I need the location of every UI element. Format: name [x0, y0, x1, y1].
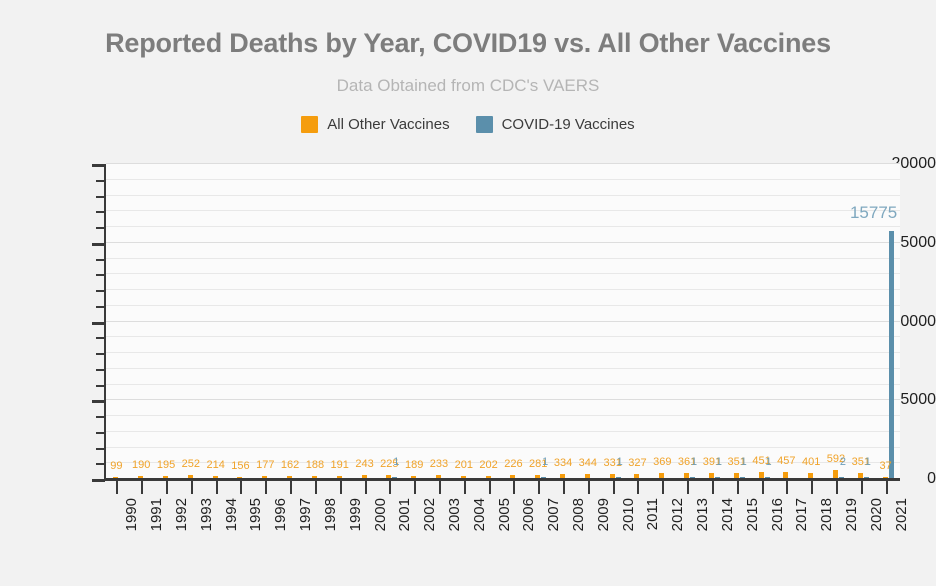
x-axis-label-1992: 1992	[173, 498, 190, 531]
x-axis-label-2018: 2018	[818, 498, 835, 531]
x-axis-label-2019: 2019	[843, 498, 860, 531]
bar-value-label-covid-19-vaccines: 1	[765, 456, 771, 468]
bar-value-label-all-other-vaccines: 252	[182, 458, 200, 470]
legend-label-all-other-vaccines: All Other Vaccines	[327, 116, 449, 133]
x-axis-tick	[588, 481, 590, 494]
x-axis-tick	[389, 481, 391, 494]
bar-value-label-all-other-vaccines: 190	[132, 459, 150, 471]
x-axis-tick	[191, 481, 193, 494]
x-axis-label-1993: 1993	[198, 498, 215, 531]
x-axis-tick	[637, 481, 639, 494]
x-axis-tick	[489, 481, 491, 494]
x-axis-line	[104, 478, 900, 481]
gridline	[106, 258, 900, 259]
legend-swatch-blue	[476, 116, 493, 133]
x-axis-tick	[240, 481, 242, 494]
x-axis-label-2013: 2013	[694, 498, 711, 531]
x-axis-label-1998: 1998	[322, 498, 339, 531]
bar-value-label-all-other-vaccines: 195	[157, 459, 175, 471]
chart-title: Reported Deaths by Year, COVID19 vs. All…	[0, 28, 936, 59]
x-axis-tick	[811, 481, 813, 494]
bar-value-label-all-other-vaccines: 177	[256, 459, 274, 471]
gridline	[106, 384, 900, 385]
gridline	[106, 431, 900, 432]
x-axis-tick	[315, 481, 317, 494]
x-axis-tick	[365, 481, 367, 494]
bar-value-label-all-other-vaccines: 191	[331, 459, 349, 471]
bar-value-label-all-other-vaccines: 334	[554, 457, 572, 469]
x-axis-label-2006: 2006	[520, 498, 537, 531]
bar-value-label-all-other-vaccines: 214	[206, 459, 224, 471]
x-axis-label-1997: 1997	[297, 498, 314, 531]
x-axis-label-2017: 2017	[793, 498, 810, 531]
gridline	[106, 415, 900, 416]
x-axis-tick	[265, 481, 267, 494]
bar-value-label-covid-19-vaccines: 1	[393, 456, 399, 468]
x-axis-label-1995: 1995	[247, 498, 264, 531]
x-axis-tick	[762, 481, 764, 494]
x-axis-label-2016: 2016	[769, 498, 786, 531]
bar-value-label-all-other-vaccines: 201	[455, 459, 473, 471]
bar-value-label-all-other-vaccines: 401	[802, 456, 820, 468]
legend-swatch-orange	[301, 116, 318, 133]
bar-value-label-all-other-vaccines: 162	[281, 459, 299, 471]
gridline	[106, 226, 900, 227]
x-axis-label-2011: 2011	[644, 498, 661, 530]
x-axis-label-1994: 1994	[223, 498, 240, 531]
gridline	[106, 210, 900, 211]
bar-value-label-covid-19-vaccines: 1	[617, 456, 623, 468]
gridline	[106, 447, 900, 448]
bar-value-label-all-other-vaccines: 233	[430, 458, 448, 470]
chart-legend: All Other Vaccines COVID-19 Vaccines	[0, 116, 936, 133]
x-axis-tick	[786, 481, 788, 494]
bar-value-label-all-other-vaccines: 156	[231, 460, 249, 472]
bar-value-label-all-other-vaccines: 99	[110, 460, 122, 472]
gridline	[106, 273, 900, 274]
x-axis-label-2014: 2014	[719, 498, 736, 531]
gridline	[106, 352, 900, 353]
bar-value-label-all-other-vaccines: 327	[628, 457, 646, 469]
bar-value-label-all-other-vaccines: 188	[306, 459, 324, 471]
x-axis-label-1999: 1999	[347, 498, 364, 531]
x-axis-tick	[290, 481, 292, 494]
x-axis-tick	[116, 481, 118, 494]
bar-value-label-covid-19-vaccines: 15775	[850, 203, 897, 223]
x-axis-label-2010: 2010	[620, 498, 637, 531]
x-axis-tick	[886, 481, 888, 494]
gridline	[106, 399, 900, 400]
gridline	[106, 336, 900, 337]
gridline	[106, 242, 900, 243]
bar-value-label-all-other-vaccines: 189	[405, 459, 423, 471]
x-axis-label-2000: 2000	[372, 498, 389, 531]
bar-value-label-covid-19-vaccines: 1	[691, 456, 697, 468]
bar-covid-19-vaccines[interactable]	[889, 231, 894, 479]
x-axis-label-1990: 1990	[123, 498, 140, 531]
bar-value-label-all-other-vaccines: 37	[879, 460, 891, 472]
x-axis-tick	[414, 481, 416, 494]
bar-value-label-all-other-vaccines: 457	[777, 455, 795, 467]
x-axis-label-2002: 2002	[421, 498, 438, 531]
x-axis-label-2020: 2020	[868, 498, 885, 531]
x-axis-tick	[538, 481, 540, 494]
x-axis-label-2007: 2007	[545, 498, 562, 531]
plot-area: 9919019525221415617716218819124322511892…	[104, 164, 900, 479]
x-axis-tick	[166, 481, 168, 494]
bar-value-label-covid-19-vaccines: 1	[865, 456, 871, 468]
legend-item-covid-19-vaccines[interactable]: COVID-19 Vaccines	[476, 116, 635, 133]
x-axis-tick	[563, 481, 565, 494]
bar-value-label-covid-19-vaccines: 2	[840, 456, 846, 468]
x-axis-label-2009: 2009	[595, 498, 612, 531]
gridline	[106, 305, 900, 306]
x-axis-tick	[613, 481, 615, 494]
gridline	[106, 195, 900, 196]
x-axis-label-2001: 2001	[396, 498, 413, 531]
gridline	[106, 368, 900, 369]
x-axis-label-2012: 2012	[669, 498, 686, 531]
x-axis-label-1991: 1991	[148, 498, 165, 531]
x-axis-label-2003: 2003	[446, 498, 463, 531]
legend-label-covid-19-vaccines: COVID-19 Vaccines	[502, 116, 635, 133]
x-axis-tick	[836, 481, 838, 494]
bar-value-label-all-other-vaccines: 369	[653, 456, 671, 468]
x-axis-tick	[712, 481, 714, 494]
x-axis-label-2004: 2004	[471, 498, 488, 531]
gridline	[106, 179, 900, 180]
bar-value-label-covid-19-vaccines: 1	[741, 456, 747, 468]
bar-value-label-covid-19-vaccines: 1	[542, 456, 548, 468]
x-axis-tick	[687, 481, 689, 494]
chart-container: Reported Deaths by Year, COVID19 vs. All…	[0, 0, 936, 586]
gridline	[106, 289, 900, 290]
x-axis-tick	[439, 481, 441, 494]
bar-value-label-all-other-vaccines: 202	[479, 459, 497, 471]
bar-value-label-all-other-vaccines: 344	[579, 457, 597, 469]
gridline	[106, 321, 900, 322]
bar-value-label-all-other-vaccines: 243	[355, 458, 373, 470]
x-axis-tick	[737, 481, 739, 494]
legend-item-all-other-vaccines[interactable]: All Other Vaccines	[301, 116, 449, 133]
x-axis-tick	[464, 481, 466, 494]
x-axis-label-2005: 2005	[496, 498, 513, 531]
x-axis-tick	[340, 481, 342, 494]
x-axis-tick	[861, 481, 863, 494]
x-axis-label-2015: 2015	[744, 498, 761, 531]
gridline	[106, 163, 900, 164]
x-axis-label-1996: 1996	[272, 498, 289, 531]
x-axis-label-2021: 2021	[893, 498, 910, 531]
bar-value-label-all-other-vaccines: 226	[504, 458, 522, 470]
x-axis-tick	[216, 481, 218, 494]
x-axis-tick	[662, 481, 664, 494]
bar-value-label-covid-19-vaccines: 1	[716, 456, 722, 468]
x-axis-tick	[141, 481, 143, 494]
chart-subtitle: Data Obtained from CDC's VAERS	[0, 76, 936, 96]
x-axis-label-2008: 2008	[570, 498, 587, 531]
x-axis-tick	[513, 481, 515, 494]
